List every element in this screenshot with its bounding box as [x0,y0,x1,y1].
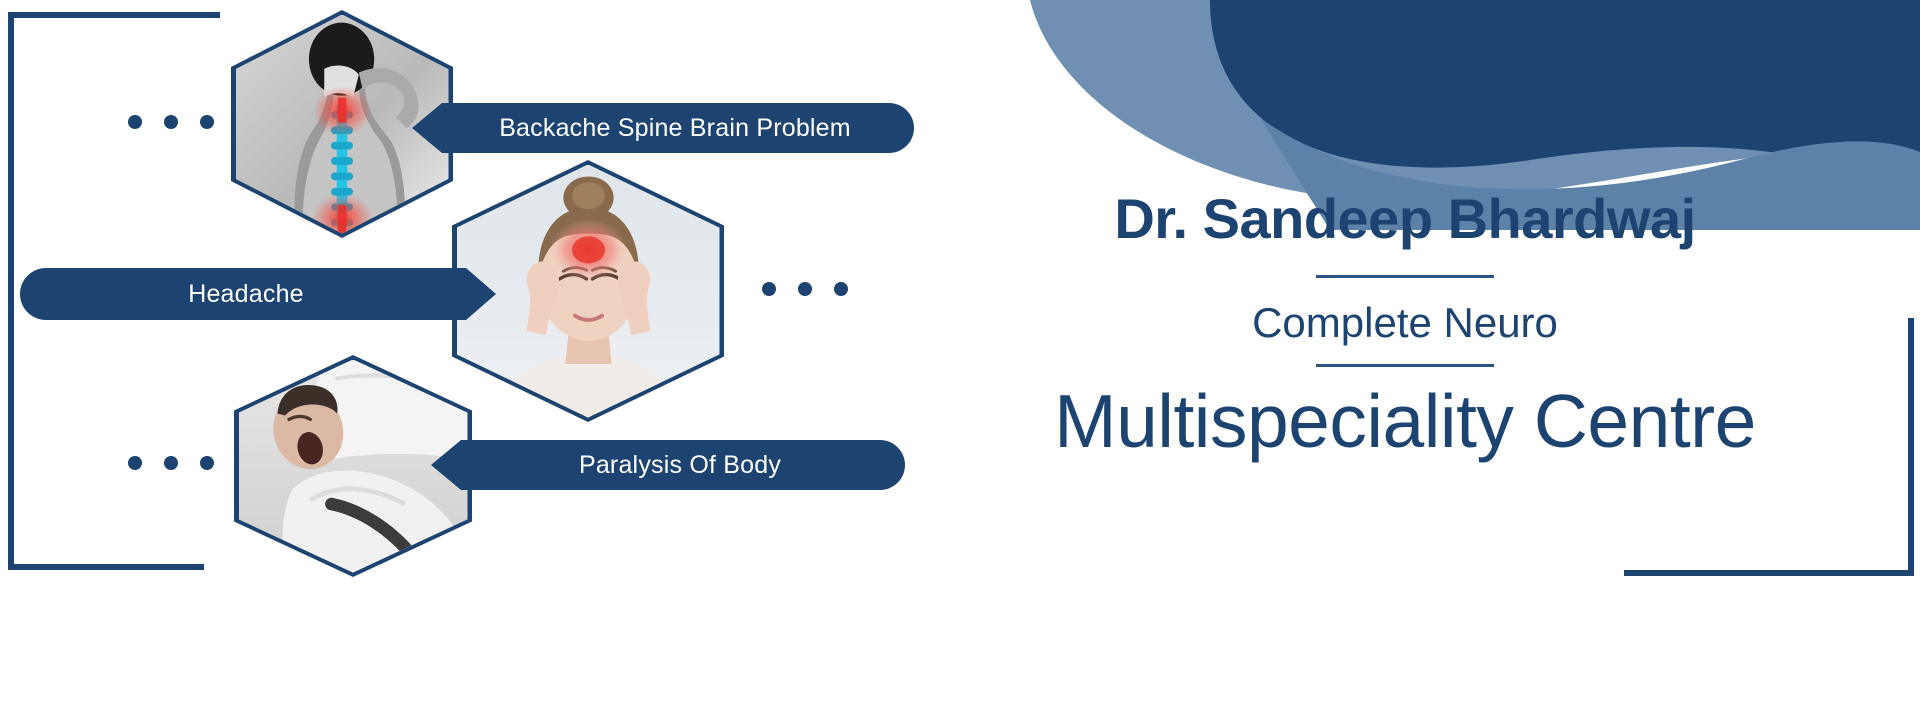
brand-block: Dr. Sandeep Bhardwaj Complete Neuro Mult… [900,190,1910,462]
service-label-text: Backache Spine Brain Problem [499,114,851,143]
wave-dark-shape [1210,0,1920,190]
service-label-headache[interactable]: Headache [20,268,496,320]
service-label-text: Headache [188,280,304,309]
dot-group-bottom-left [128,456,214,470]
dot [200,115,214,129]
spine-backache-photo-icon [236,15,449,234]
dot [762,282,776,296]
dot [200,456,214,470]
dot [164,115,178,129]
frame-top-left [8,12,220,312]
service-label-paralysis[interactable]: Paralysis Of Body [431,440,905,490]
frame-bottom-left [8,300,204,570]
dot [164,456,178,470]
dot-group-middle-right [762,282,848,296]
clinic-banner: Backache Spine Brain Problem [0,0,1920,721]
wave-light-shape [1030,0,1920,202]
dot [798,282,812,296]
dot [128,456,142,470]
dot [834,282,848,296]
dot-group-top-left [128,115,214,129]
headache-woman-photo-icon [457,165,720,418]
doctor-name: Dr. Sandeep Bhardwaj [900,190,1910,249]
brand-tagline: Complete Neuro [900,300,1910,346]
centre-name: Multispeciality Centre [900,381,1910,462]
service-hexagon-headache[interactable] [452,160,724,422]
service-label-text: Paralysis Of Body [579,451,781,480]
service-label-backache[interactable]: Backache Spine Brain Problem [412,103,914,153]
divider-bottom [1316,364,1494,367]
dot [128,115,142,129]
divider-top [1316,275,1494,278]
